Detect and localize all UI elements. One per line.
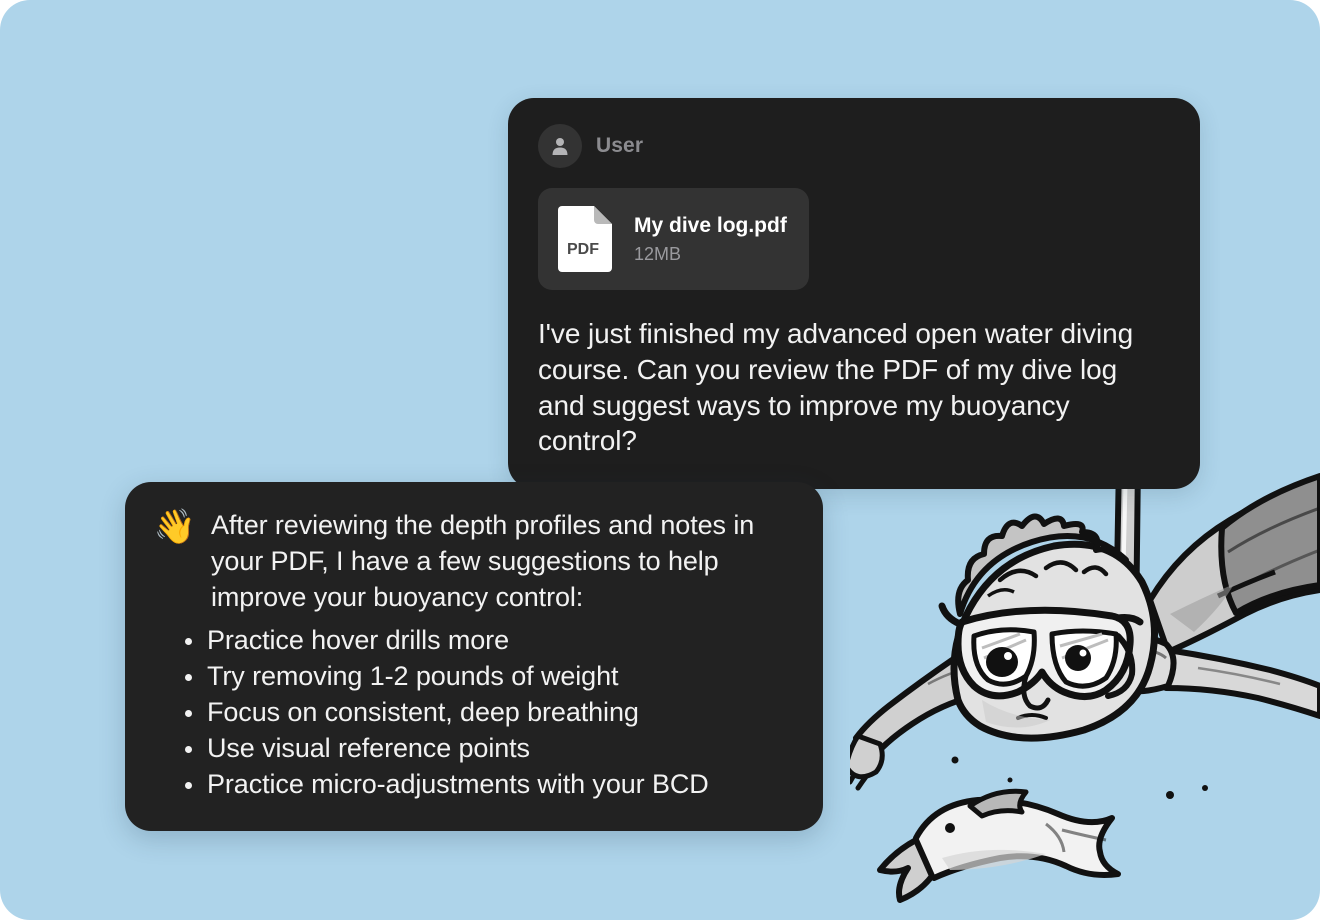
pdf-file-icon: PDF bbox=[556, 204, 614, 274]
attachment-card[interactable]: PDF My dive log.pdf 12MB bbox=[538, 188, 809, 290]
waving-hand-emoji: 👋 bbox=[153, 508, 197, 546]
diver-right-arm bbox=[1166, 650, 1320, 716]
list-item: Practice hover drills more bbox=[171, 622, 795, 658]
fish-illustration bbox=[880, 791, 1118, 900]
user-message-header: User bbox=[538, 124, 1170, 168]
fish-eye bbox=[945, 823, 955, 833]
avatar bbox=[538, 124, 582, 168]
assistant-intro-row: 👋 After reviewing the depth profiles and… bbox=[153, 508, 795, 616]
list-item: Try removing 1-2 pounds of weight bbox=[171, 658, 795, 694]
diver-torso bbox=[1150, 476, 1320, 652]
list-item: Practice micro-adjustments with your BCD bbox=[171, 766, 795, 802]
user-message-bubble: User PDF My dive log.pdf 12MB I've just … bbox=[508, 98, 1200, 489]
diver-head bbox=[942, 516, 1155, 738]
user-message-text: I've just finished my advanced open wate… bbox=[538, 316, 1170, 459]
chat-scene: User PDF My dive log.pdf 12MB I've just … bbox=[0, 0, 1320, 920]
user-message-author: User bbox=[596, 134, 643, 158]
assistant-message-bubble: 👋 After reviewing the depth profiles and… bbox=[125, 482, 823, 831]
attachment-filename: My dive log.pdf bbox=[634, 214, 787, 238]
person-avatar-icon bbox=[548, 134, 572, 158]
list-item: Focus on consistent, deep breathing bbox=[171, 694, 795, 730]
diver-left-arm bbox=[850, 658, 974, 788]
assistant-suggestion-list: Practice hover drills more Try removing … bbox=[153, 622, 795, 803]
diver-eye-right bbox=[1065, 645, 1091, 671]
assistant-intro-text: After reviewing the depth profiles and n… bbox=[211, 508, 795, 616]
pdf-icon-label: PDF bbox=[567, 241, 599, 258]
diver-neck bbox=[1100, 636, 1174, 692]
attachment-filesize: 12MB bbox=[634, 244, 787, 265]
list-item: Use visual reference points bbox=[171, 730, 795, 766]
diver-eye-left bbox=[986, 647, 1018, 677]
